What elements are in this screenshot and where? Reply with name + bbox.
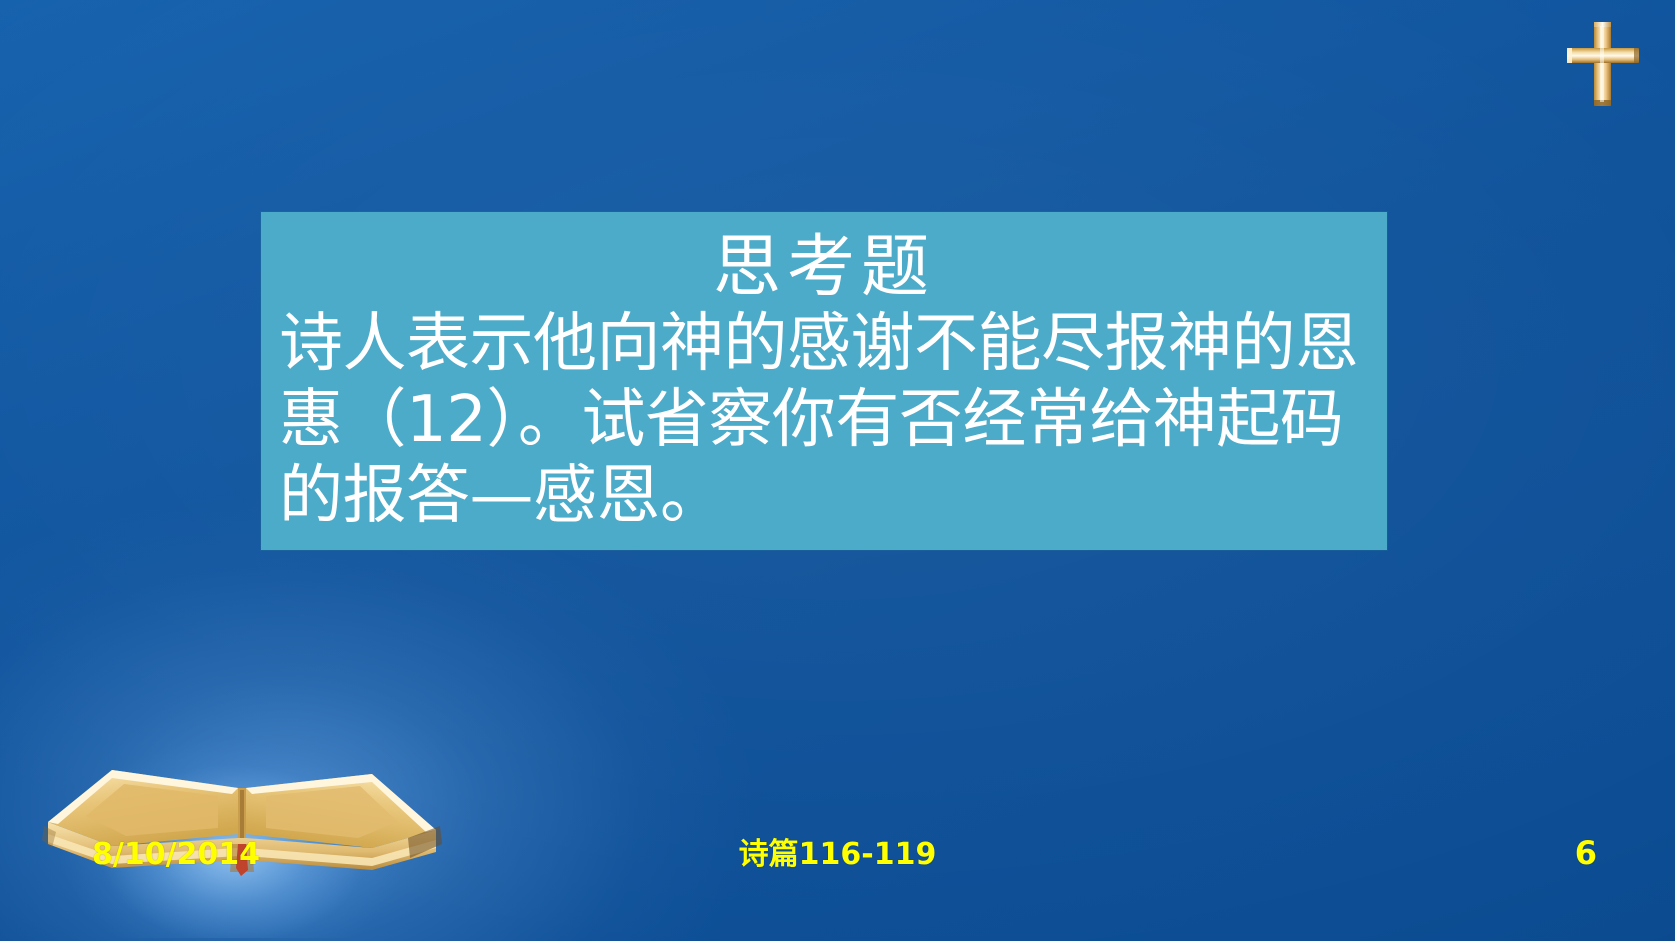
slide-title: 思考题 (261, 212, 1387, 306)
footer-scripture-reference: 诗篇116-119 (0, 838, 1675, 872)
body-line-3: 的报答—感恩。 (279, 458, 1373, 534)
footer-page-number: 6 (1575, 836, 1597, 870)
body-line-2: 惠（12）。试省察你有否经常给神起码 (279, 382, 1373, 458)
presentation-slide: 思考题 诗人表示他向神的感谢不能尽报神的恩 惠（12）。试省察你有否经常给神起码… (0, 0, 1675, 941)
content-panel: 思考题 诗人表示他向神的感谢不能尽报神的恩 惠（12）。试省察你有否经常给神起码… (261, 212, 1387, 550)
slide-body-text: 诗人表示他向神的感谢不能尽报神的恩 惠（12）。试省察你有否经常给神起码 的报答… (261, 306, 1387, 534)
body-line-1: 诗人表示他向神的感谢不能尽报神的恩 (279, 306, 1373, 382)
cross-icon (1558, 16, 1650, 112)
